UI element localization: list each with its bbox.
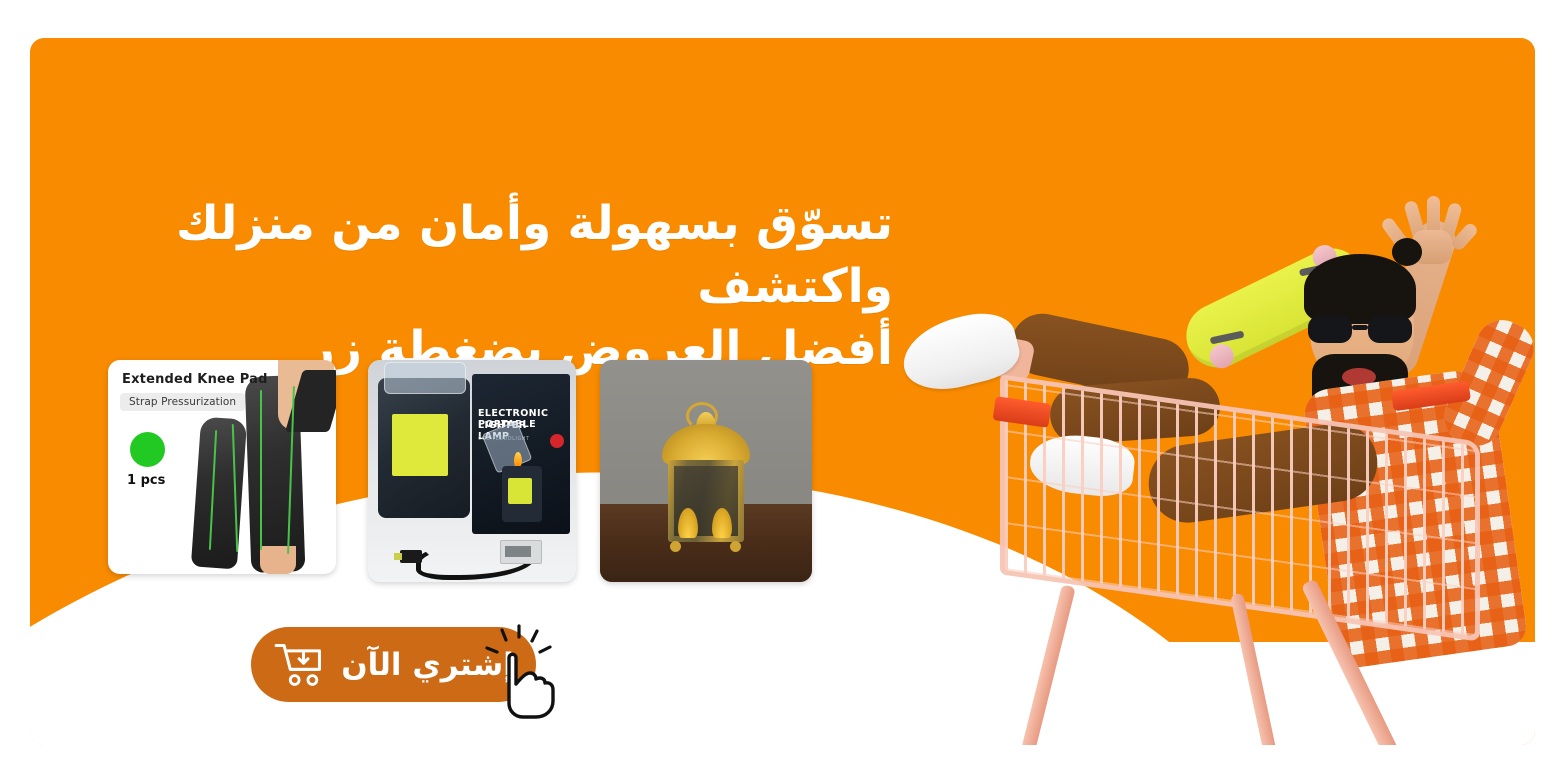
lantern-body	[668, 460, 744, 542]
hair-bun	[1392, 238, 1422, 266]
buy-now-label: إشتري الآن	[341, 647, 514, 683]
calf-skin	[260, 546, 296, 574]
product-gallery: Extended Knee Pad Strap Pressurization 1…	[108, 360, 813, 582]
hero-illustration	[880, 168, 1535, 745]
cart-leg-back	[1014, 584, 1076, 745]
lamp-unit	[378, 378, 470, 518]
product-subtitle: Strap Pressurization	[120, 393, 245, 411]
page-title: تسوّق بسهولة وأمان من منزلك واكتشف أفضل …	[30, 193, 893, 381]
flame-icon	[514, 452, 522, 467]
red-badge	[550, 434, 564, 448]
cart-download-icon	[273, 642, 327, 688]
buy-now-button[interactable]: إشتري الآن	[251, 627, 536, 702]
promo-banner: تسوّق بسهولة وأمان من منزلك واكتشف أفضل …	[0, 0, 1562, 781]
retail-box: ELECTRONIC LIGHTER PORTABLE LAMP COB FLO…	[472, 374, 570, 534]
product-card-knee-pad[interactable]: Extended Knee Pad Strap Pressurization 1…	[108, 360, 336, 574]
color-swatch-green	[130, 432, 165, 467]
product-quantity: 1 pcs	[127, 473, 165, 488]
product-title: Extended Knee Pad	[122, 372, 268, 387]
shopping-cart	[1000, 368, 1520, 745]
micro-usb-connector	[400, 550, 422, 563]
product-card-lantern[interactable]	[600, 360, 812, 582]
product-card-lighter-lamp[interactable]: ELECTRONIC LIGHTER PORTABLE LAMP COB FLO…	[368, 360, 576, 582]
cob-panel	[392, 414, 448, 476]
banner-panel: تسوّق بسهولة وأمان من منزلك واكتشف أفضل …	[30, 38, 1535, 745]
hair	[1304, 254, 1416, 324]
usb-cable	[398, 536, 548, 576]
cart-handle	[1391, 381, 1471, 412]
lantern-roof	[662, 424, 750, 464]
ramadan-lantern	[656, 398, 756, 558]
cart-leg-mid	[1230, 593, 1284, 745]
usb-a-connector	[500, 540, 542, 564]
sunglasses-icon	[1308, 316, 1414, 344]
knee-sleeve-short	[191, 417, 247, 570]
